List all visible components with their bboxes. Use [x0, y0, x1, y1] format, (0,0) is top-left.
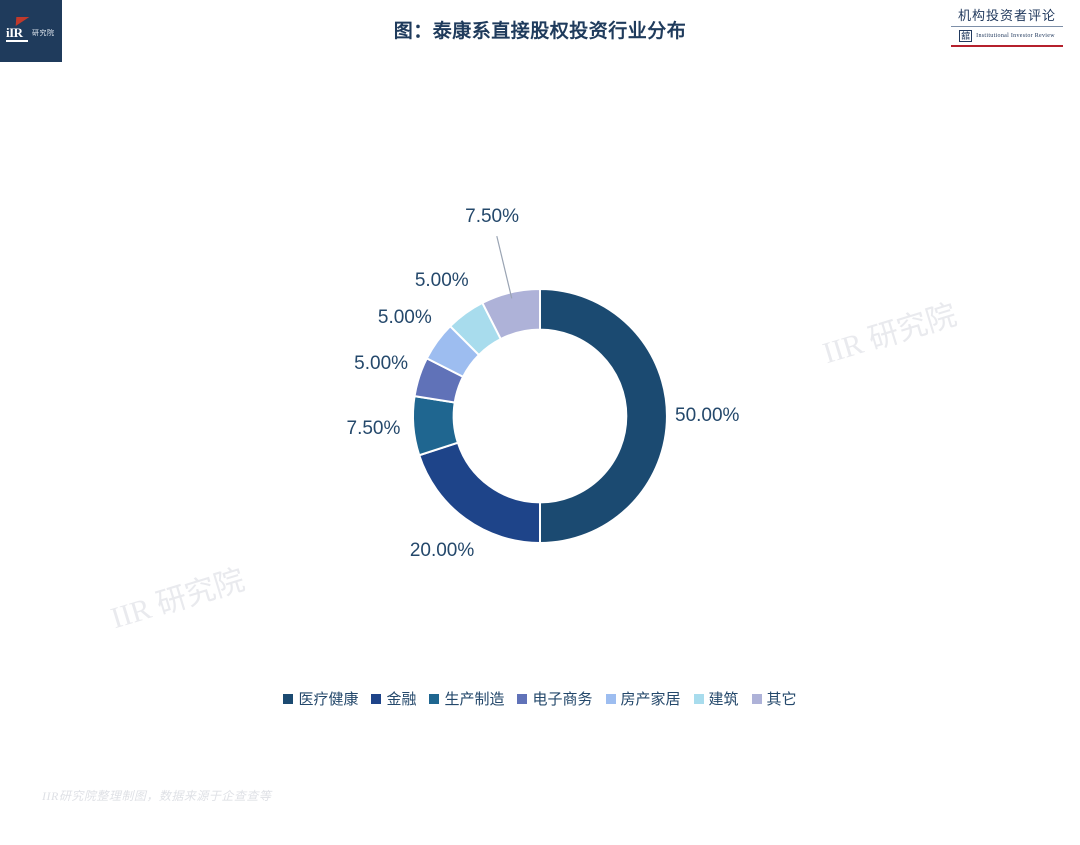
- leader-line-group: [497, 236, 512, 298]
- legend-item[interactable]: 金融: [371, 688, 416, 709]
- donut-slice[interactable]: [540, 289, 667, 543]
- legend-swatch-icon: [606, 694, 616, 704]
- brand-divider: [951, 26, 1063, 27]
- donut-chart: IIR 研究院 IIR 研究院 50.00%20.00%7.50%5.00%5.…: [0, 64, 1080, 704]
- legend-item[interactable]: 建筑: [694, 688, 739, 709]
- brand-seal-icon: 舘: [959, 30, 972, 42]
- legend-swatch-icon: [752, 694, 762, 704]
- legend-swatch-icon: [429, 694, 439, 704]
- donut-svg: [0, 64, 1080, 704]
- legend-item[interactable]: 房产家居: [606, 688, 681, 709]
- data-label: 7.50%: [347, 418, 401, 440]
- page-header: iIR 研究院 图：泰康系直接股权投资行业分布 机构投资者评论 舘 Instit…: [0, 0, 1080, 65]
- data-label: 50.00%: [675, 405, 739, 427]
- legend-swatch-icon: [694, 694, 704, 704]
- legend-label: 金融: [386, 688, 416, 709]
- legend-label: 建筑: [709, 688, 739, 709]
- chart-footnote: IIR研究院整理制图，数据来源于企查查等: [42, 787, 271, 804]
- data-label: 5.00%: [415, 270, 469, 292]
- donut-slice-group: [413, 289, 667, 543]
- legend-item[interactable]: 生产制造: [429, 688, 504, 709]
- brand-subrow: 舘 Institutional Investor Review: [948, 30, 1066, 42]
- publisher-brand: 机构投资者评论 舘 Institutional Investor Review: [948, 8, 1066, 47]
- data-label: 20.00%: [410, 540, 474, 562]
- legend-swatch-icon: [517, 694, 527, 704]
- data-label: 5.00%: [354, 353, 408, 375]
- legend-item[interactable]: 其它: [752, 688, 797, 709]
- leader-line: [497, 236, 512, 298]
- chart-canvas: IIR 研究院 IIR 研究院 50.00%20.00%7.50%5.00%5.…: [0, 64, 1080, 845]
- legend-label: 医疗健康: [298, 688, 358, 709]
- legend-swatch-icon: [283, 694, 293, 704]
- legend-label: 生产制造: [444, 688, 504, 709]
- data-label: 5.00%: [378, 307, 432, 329]
- brand-name-cn: 机构投资者评论: [948, 8, 1066, 24]
- legend-item[interactable]: 医疗健康: [283, 688, 358, 709]
- page-title: 图：泰康系直接股权投资行业分布: [0, 16, 1080, 43]
- chart-legend: 医疗健康金融生产制造电子商务房产家居建筑其它: [0, 688, 1080, 709]
- brand-name-en: Institutional Investor Review: [976, 33, 1055, 39]
- brand-accent-line: [951, 45, 1063, 47]
- legend-item[interactable]: 电子商务: [517, 688, 592, 709]
- data-label: 7.50%: [465, 206, 519, 228]
- legend-label: 房产家居: [621, 688, 681, 709]
- legend-label: 电子商务: [532, 688, 592, 709]
- donut-slice[interactable]: [419, 443, 540, 543]
- legend-label: 其它: [767, 688, 797, 709]
- legend-swatch-icon: [371, 694, 381, 704]
